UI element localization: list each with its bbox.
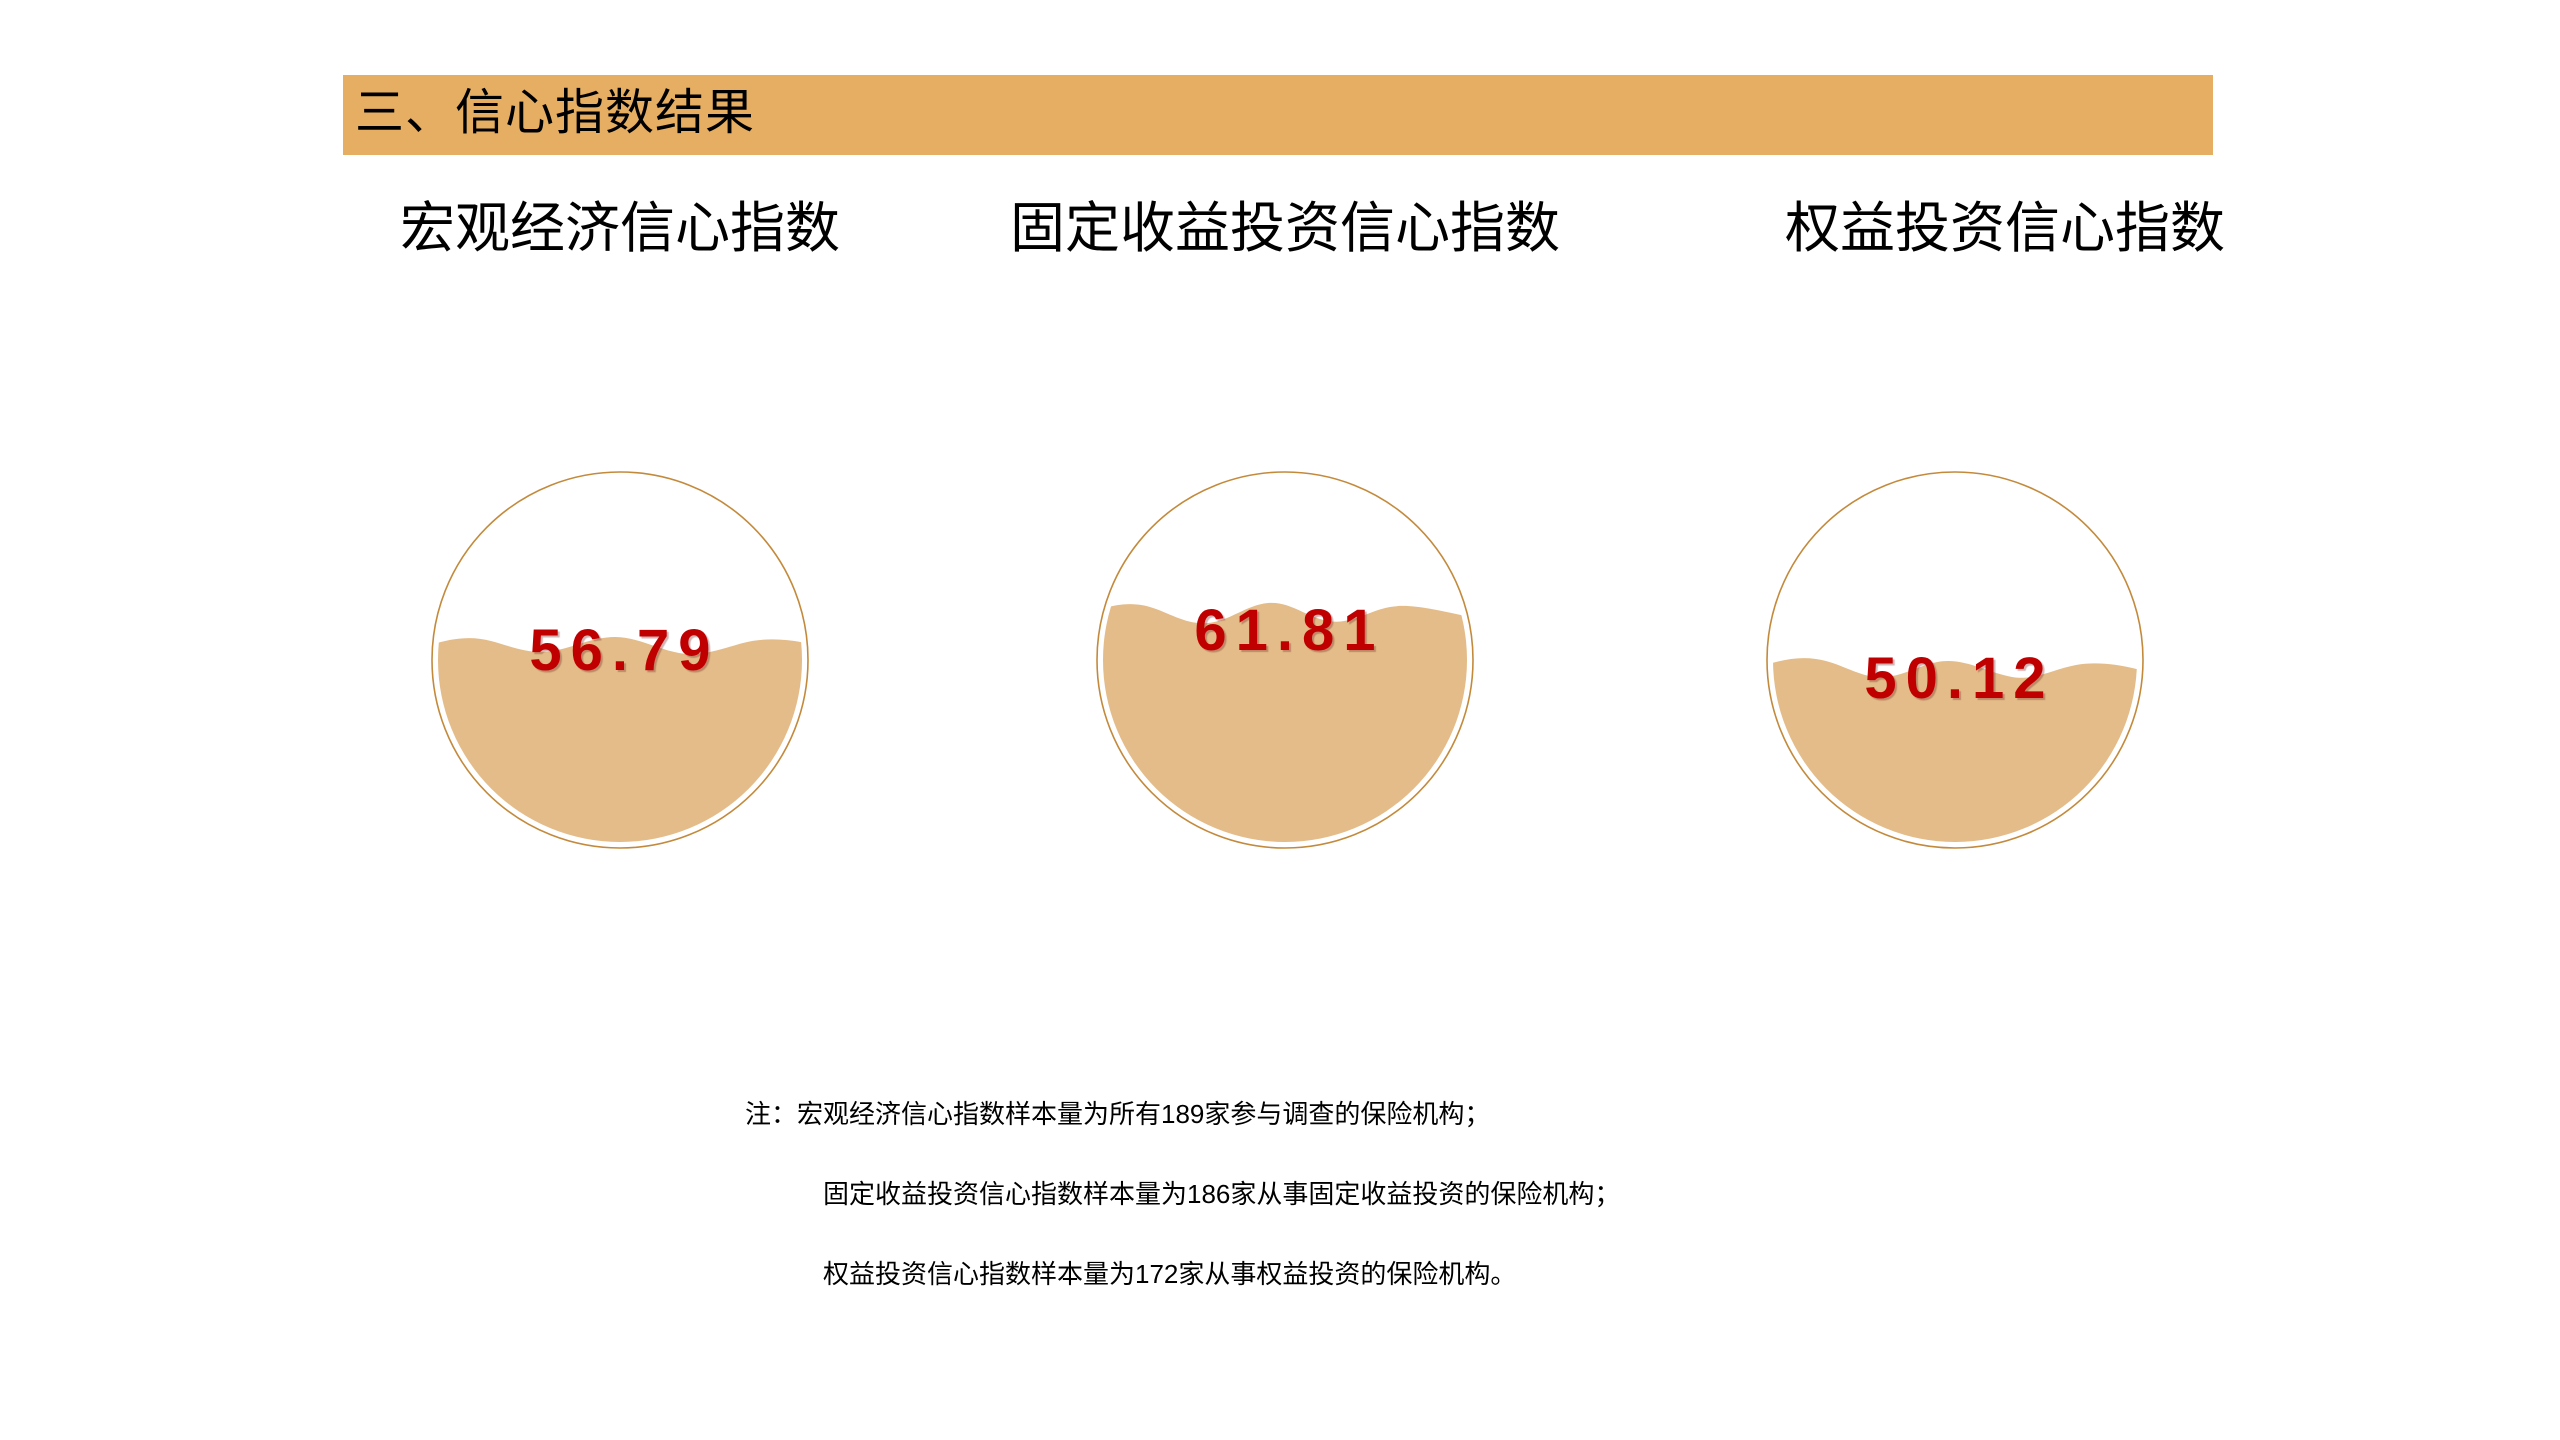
slide-root: 三、信心指数结果 宏观经济信心指数 固定收益投资信心指数 权益投资信心指数 56… [0, 0, 2560, 1440]
gauge-macro: 56.79 [425, 465, 815, 855]
footnote-line-equity: 权益投资信心指数样本量为172家从事权益投资的保险机构。 [745, 1255, 2045, 1293]
gauge-value-equity: 50.12 [1760, 645, 2150, 712]
footnote-block: 注：宏观经济信心指数样本量为所有189家参与调查的保险机构； 固定收益投资信心指… [745, 1095, 2045, 1335]
footnote-line-fixed-income: 固定收益投资信心指数样本量为186家从事固定收益投资的保险机构； [745, 1175, 2045, 1213]
gauge-fixed-income: 61.81 [1090, 465, 1480, 855]
gauge-value-fixed-income: 61.81 [1090, 597, 1480, 664]
gauge-equity: 50.12 [1760, 465, 2150, 855]
footnote-line-macro: 注：宏观经济信心指数样本量为所有189家参与调查的保险机构； [745, 1095, 2045, 1133]
gauge-value-macro: 56.79 [425, 617, 815, 684]
